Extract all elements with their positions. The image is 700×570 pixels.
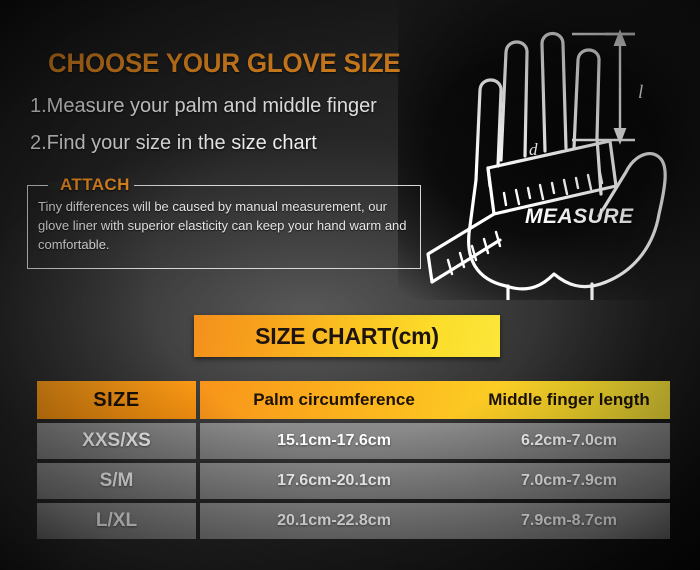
header-label-size: SIZE	[93, 389, 139, 412]
cell-finger-value: 7.9cm-8.7cm	[521, 512, 617, 530]
cell-size: L/XL	[37, 503, 196, 539]
palm-right-edge	[597, 138, 601, 194]
palm-left-edge	[469, 180, 506, 286]
cell-size-value: L/XL	[96, 510, 137, 532]
cell-finger: 6.2cm-7.0cm	[468, 423, 670, 459]
header-label-finger: Middle finger length	[488, 390, 650, 410]
cell-size-value: XXS/XS	[82, 430, 151, 452]
cell-finger: 7.9cm-8.7cm	[468, 503, 670, 539]
tape-band-left-cap	[488, 168, 490, 186]
cell-palm: 17.6cm-20.1cm	[200, 463, 468, 499]
attach-label: ATTACH	[53, 175, 137, 195]
header-label-palm: Palm circumference	[253, 390, 415, 410]
cell-finger-value: 7.0cm-7.9cm	[521, 472, 617, 490]
size-chart-banner-title: SIZE CHART(cm)	[255, 323, 439, 350]
instruction-step-1: 1.Measure your palm and middle finger	[30, 95, 377, 118]
header-cell-finger: Middle finger length	[468, 381, 670, 419]
instruction-step-2: 2.Find your size in the size chart	[30, 132, 317, 155]
cell-size: XXS/XS	[37, 423, 196, 459]
cell-finger: 7.0cm-7.9cm	[468, 463, 670, 499]
size-chart-banner: SIZE CHART(cm)	[194, 315, 500, 357]
cell-measurements: 20.1cm-22.8cm 7.9cm-8.7cm	[200, 503, 670, 539]
page-title: CHOOSE YOUR GLOVE SIZE	[48, 48, 400, 79]
table-row: S/M 17.6cm-20.1cm 7.0cm-7.9cm	[37, 463, 670, 499]
table-row: L/XL 20.1cm-22.8cm 7.9cm-8.7cm	[37, 503, 670, 539]
length-dimension-line	[572, 32, 635, 300]
header-cell-measurements: Palm circumference Middle finger length	[200, 381, 670, 419]
ring-finger-path	[574, 50, 599, 148]
cell-size: S/M	[37, 463, 196, 499]
cell-finger-value: 6.2cm-7.0cm	[521, 432, 617, 450]
index-finger-path	[542, 34, 566, 152]
hand-measure-illustration	[420, 8, 700, 300]
cell-palm-value: 20.1cm-22.8cm	[277, 512, 391, 530]
header-cell-palm: Palm circumference	[200, 381, 468, 419]
hand-outline-svg	[420, 8, 700, 300]
cell-palm: 20.1cm-22.8cm	[200, 503, 468, 539]
glove-size-guide-page: CHOOSE YOUR GLOVE SIZE 1.Measure your pa…	[0, 0, 700, 570]
cell-measurements: 17.6cm-20.1cm 7.0cm-7.9cm	[200, 463, 670, 499]
size-chart-table: SIZE Palm circumference Middle finger le…	[37, 381, 670, 539]
attach-note-text: Tiny differences will be caused by manua…	[38, 197, 412, 254]
cell-size-value: S/M	[100, 470, 134, 492]
cell-measurements: 15.1cm-17.6cm 6.2cm-7.0cm	[200, 423, 670, 459]
table-row: XXS/XS 15.1cm-17.6cm 6.2cm-7.0cm	[37, 423, 670, 459]
tape-tail-path	[428, 214, 500, 282]
table-header-row: SIZE Palm circumference Middle finger le…	[37, 381, 670, 419]
finger-length-dimension-label: l	[638, 82, 643, 104]
cell-palm-value: 15.1cm-17.6cm	[277, 432, 391, 450]
measure-word-label: MEASURE	[525, 205, 634, 229]
middle-finger-path	[501, 42, 527, 160]
header-cell-size: SIZE	[37, 381, 196, 419]
palm-width-dimension-label: d	[529, 140, 538, 160]
cell-palm: 15.1cm-17.6cm	[200, 423, 468, 459]
cell-palm-value: 17.6cm-20.1cm	[277, 472, 391, 490]
